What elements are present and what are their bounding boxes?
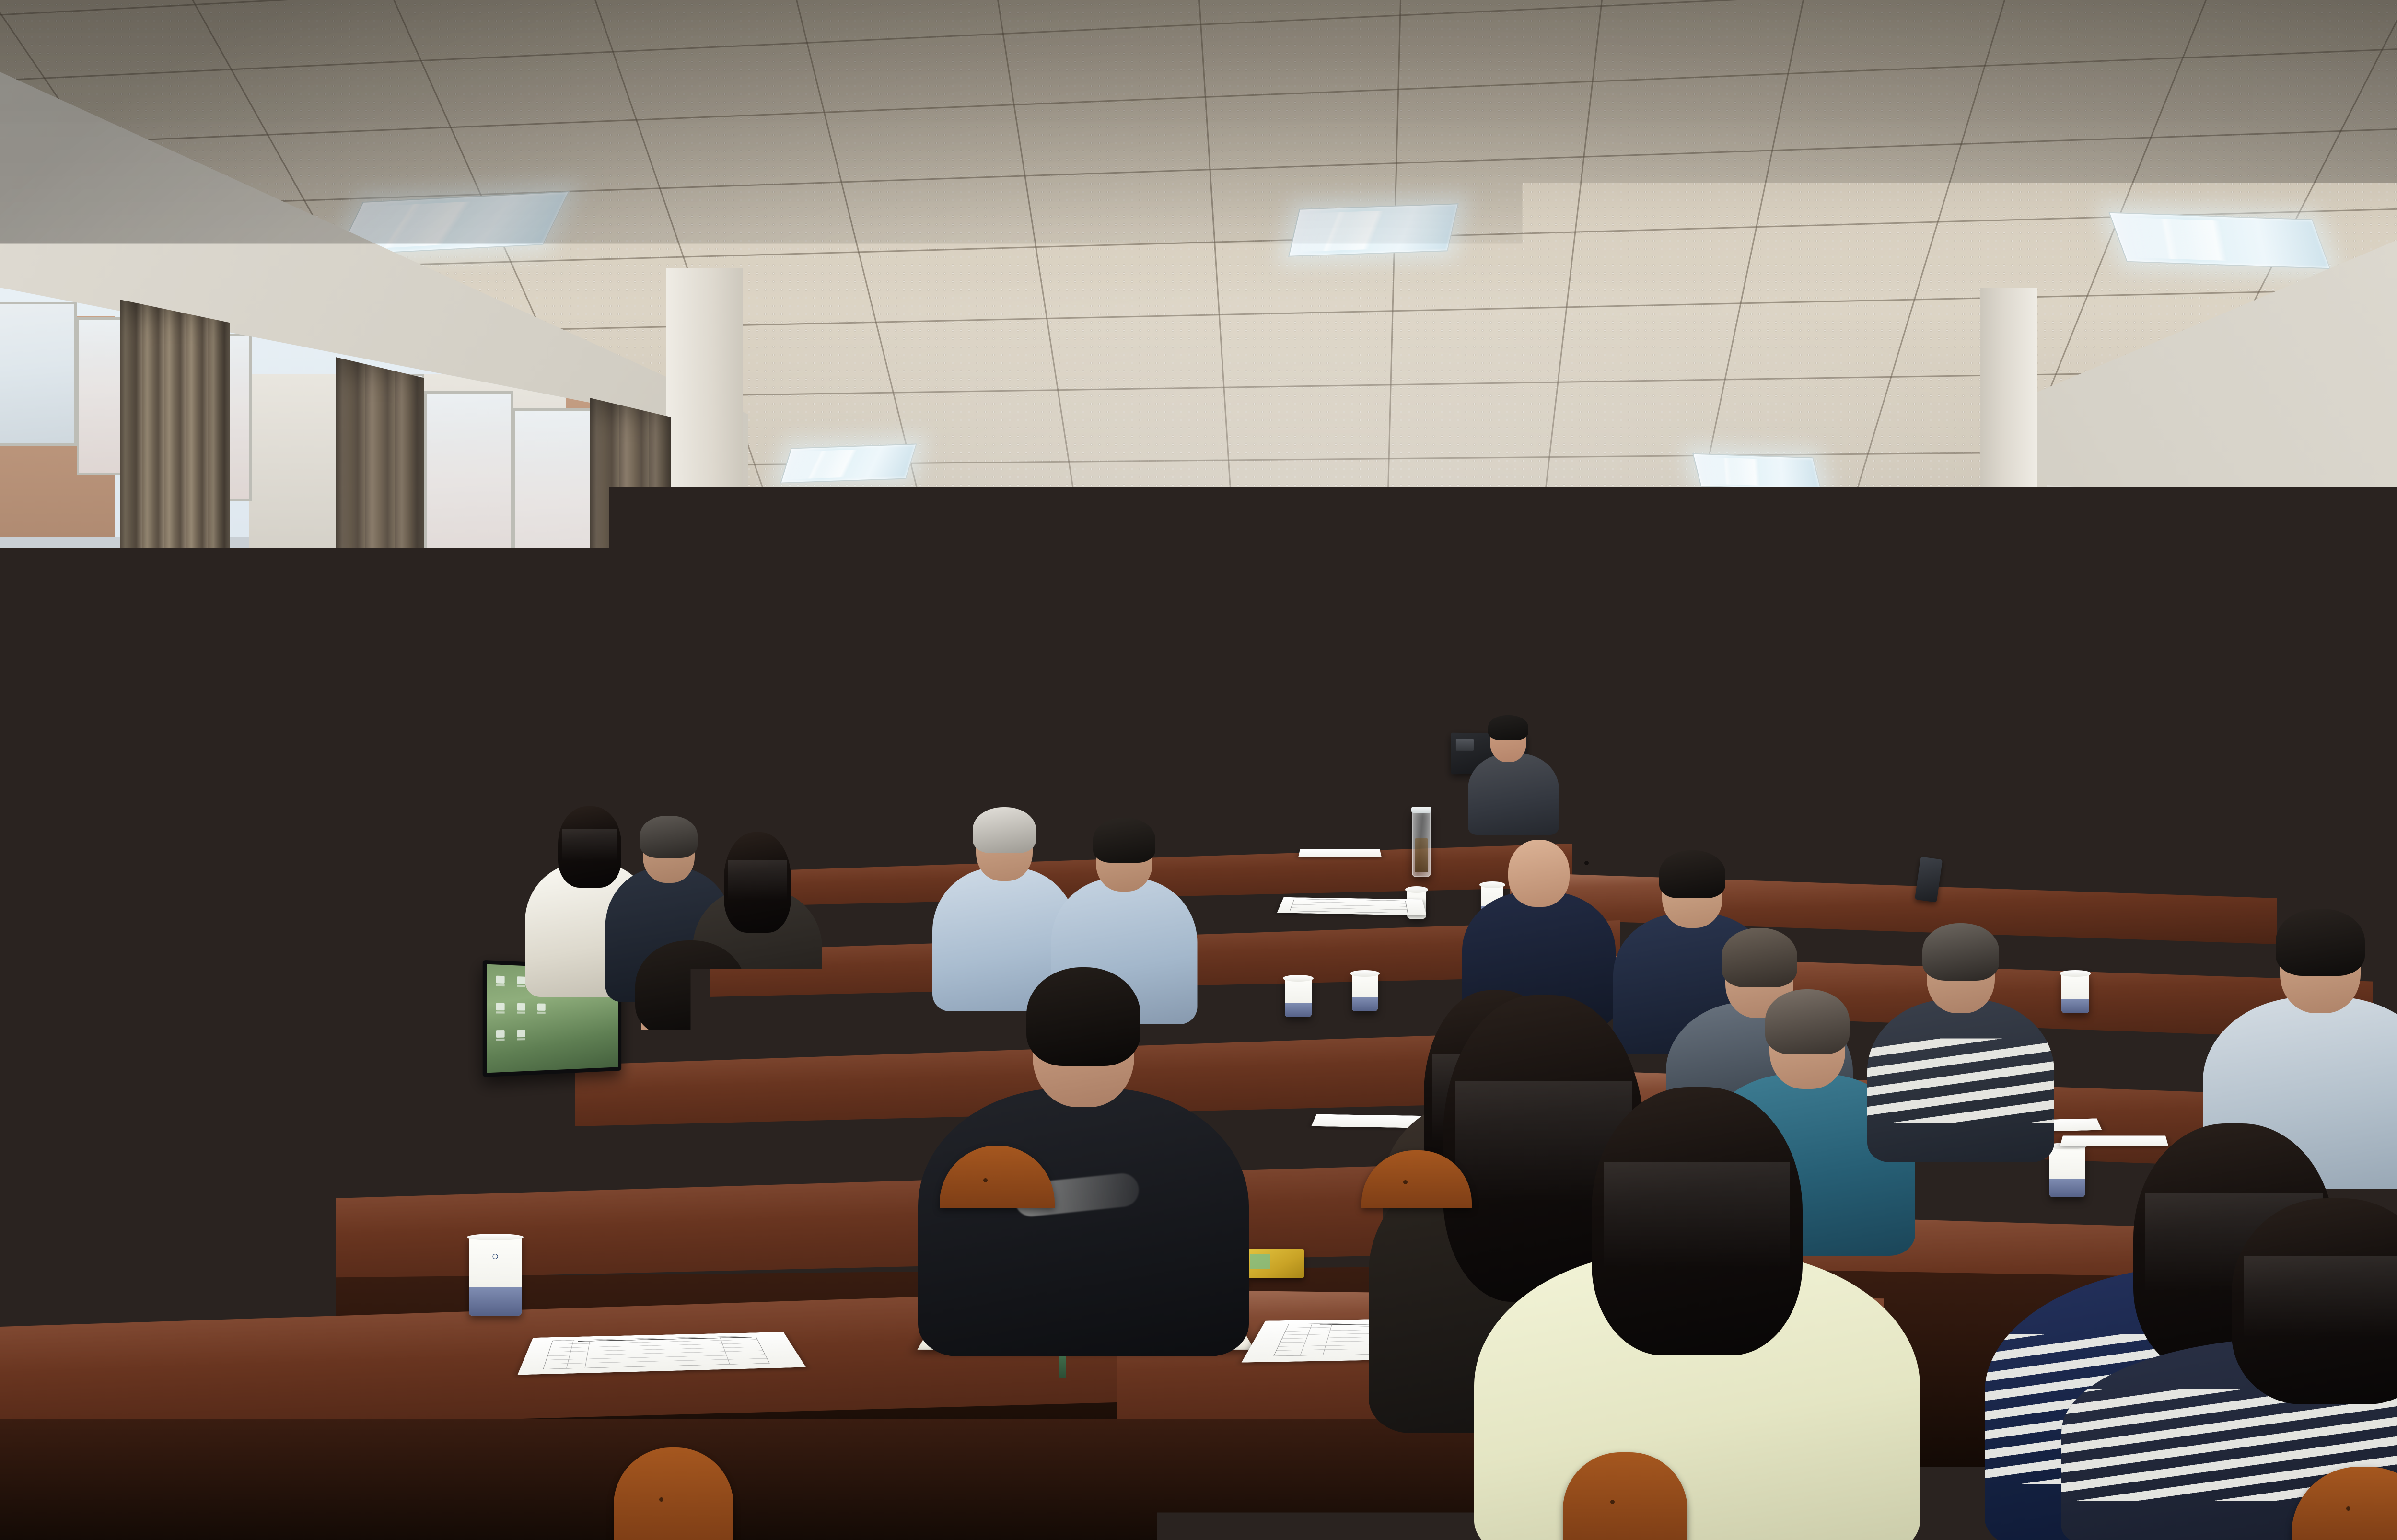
slide-title-line1: 国家卫健委毒品依赖和 <box>1187 725 1396 736</box>
cabinet-shelf <box>2387 779 2397 782</box>
wall-speaker-left <box>863 594 896 657</box>
wall-speaker-right <box>1683 598 1714 661</box>
cabinet-1-glass-door[interactable] <box>2385 637 2397 839</box>
agenda-sheet-row2[interactable] <box>1277 897 1427 915</box>
paper-cup-left[interactable] <box>469 1237 522 1316</box>
glass-thermos-row2[interactable] <box>1412 810 1431 877</box>
conference-room-photo: 天津医科大学 TIANJIN MEDICAL UNIVERSITY 国家卫健委毒… <box>0 0 2397 1540</box>
paper-cup-mid-right[interactable] <box>2061 973 2089 1013</box>
desktop-icon <box>517 1003 525 1011</box>
slide-corner-mark <box>1374 693 1404 697</box>
cup-rim <box>1405 886 1428 893</box>
attendee-hair <box>126 995 248 1102</box>
desktop-icon <box>496 1003 505 1010</box>
window-pane-5 <box>424 391 513 592</box>
thermos-lid[interactable] <box>1411 807 1431 813</box>
window-pane-1 <box>0 302 77 446</box>
desktop-icon <box>496 1030 505 1038</box>
cup-logo-icon <box>493 1254 498 1259</box>
attendee-hair <box>1922 923 1999 981</box>
cabinet-shelf <box>2387 702 2397 706</box>
attendee-torso <box>918 1088 1249 1356</box>
projector-screen-housing[interactable] <box>1167 596 1412 625</box>
document-row1[interactable] <box>1298 849 1382 857</box>
cup-brand-band <box>1285 1003 1312 1017</box>
attendee-hair <box>1026 967 1140 1066</box>
attendee-hair <box>2232 1198 2397 1404</box>
slide-title-line2: 戒治重点实验开放课题论证会 <box>1187 736 1396 747</box>
attendee-hair <box>1659 850 1725 898</box>
presenter-hair <box>1488 715 1528 740</box>
slide-banner: 请各位专家批评指正！ <box>1168 765 1406 801</box>
cup-rim <box>1283 975 1314 982</box>
agenda-table <box>1290 899 1408 913</box>
attendee-head <box>1508 840 1570 907</box>
breaker-panel <box>1548 705 1604 738</box>
thermos-tea-contents <box>1415 838 1429 872</box>
attendee-torso <box>0 1323 398 1540</box>
attendee-hair-grey <box>973 807 1036 853</box>
slide-banner-text: 请各位专家批评指正！ <box>1222 775 1352 792</box>
university-name-en: TIANJIN MEDICAL UNIVERSITY <box>1184 700 1230 702</box>
agenda-table <box>543 1336 769 1369</box>
attendee-white-hoodie <box>537 901 844 1294</box>
desktop-icon <box>517 1030 525 1038</box>
cup-brand-band <box>2061 999 2089 1013</box>
attendee-hair <box>1093 818 1155 863</box>
transom-window-1 <box>1860 538 1944 658</box>
placard-text: 团长 <box>915 776 931 787</box>
notebook-ribbon <box>1059 1356 1066 1378</box>
paper-cup-center-row3[interactable] <box>1285 978 1312 1017</box>
ceiling-light-5 <box>1692 453 1822 491</box>
slide-title: 国家卫健委毒品依赖和 戒治重点实验开放课题论证会 <box>1184 722 1398 750</box>
cup-rim <box>467 1234 524 1240</box>
attendee-hair <box>635 940 745 1036</box>
attendee-hair <box>1592 1087 1803 1355</box>
attendee-black-tee-script <box>911 925 1256 1347</box>
coat-hanger-rack <box>930 759 988 789</box>
cup-brand-band <box>469 1287 522 1316</box>
attendee-cream-top-woman <box>1467 1026 1927 1540</box>
university-seal-icon <box>1172 692 1182 702</box>
ceiling-light-4 <box>780 443 917 483</box>
cup-rim <box>2060 970 2091 977</box>
ceiling-light-3 <box>2108 212 2330 269</box>
ceiling-light-2 <box>1288 203 1459 257</box>
transom-window-2 <box>1944 531 2004 656</box>
transom-window-3 <box>2047 485 2157 637</box>
university-name-cn: 天津医科大学 <box>1183 692 1230 699</box>
desktop-icon <box>496 976 505 984</box>
university-logo: 天津医科大学 TIANJIN MEDICAL UNIVERSITY <box>1172 692 1230 702</box>
attendee-hair <box>2276 909 2365 976</box>
